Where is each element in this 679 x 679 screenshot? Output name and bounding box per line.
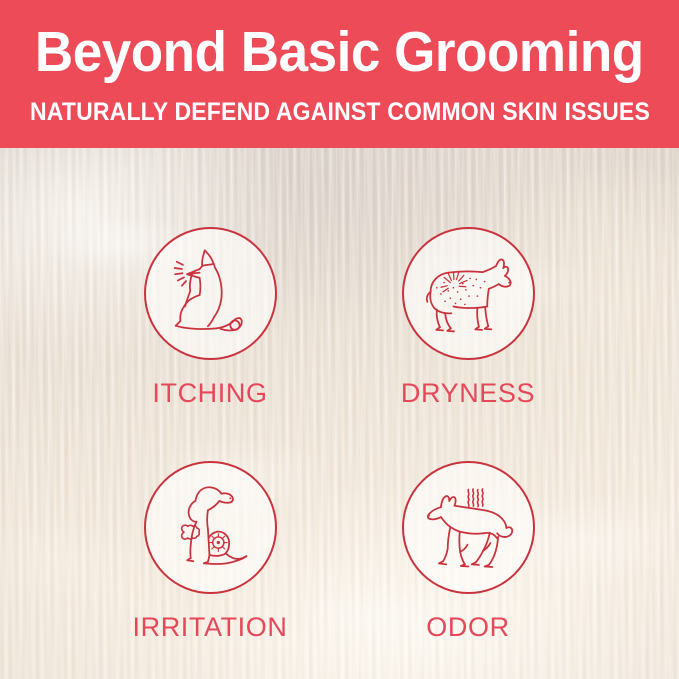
dog-scratching-icon — [158, 242, 262, 346]
dog-irritated-patch-icon — [158, 476, 262, 580]
feature-label-itching: ITCHING — [152, 380, 267, 407]
dryness-icon-circle — [402, 227, 535, 360]
dog-odor-lines-icon — [416, 476, 520, 580]
feature-grid: ITCHING — [0, 148, 679, 679]
grooming-infographic: Beyond Basic Grooming NATURALLY DEFEND A… — [0, 0, 679, 679]
page-subtitle: NATURALLY DEFEND AGAINST COMMON SKIN ISS… — [29, 100, 649, 125]
feature-label-dryness: DRYNESS — [401, 380, 535, 407]
page-title: Beyond Basic Grooming — [35, 24, 644, 81]
odor-icon-circle — [402, 461, 535, 594]
feature-label-irritation: IRRITATION — [133, 614, 288, 641]
feature-itching: ITCHING — [85, 227, 335, 407]
feature-odor: ODOR — [343, 461, 593, 641]
feature-irritation: IRRITATION — [85, 461, 335, 641]
feature-dryness: DRYNESS — [343, 227, 593, 407]
feature-label-odor: ODOR — [426, 614, 509, 641]
itching-icon-circle — [144, 227, 277, 360]
header-banner: Beyond Basic Grooming NATURALLY DEFEND A… — [0, 0, 679, 148]
irritation-icon-circle — [144, 461, 277, 594]
dog-dandruff-icon — [416, 242, 520, 346]
